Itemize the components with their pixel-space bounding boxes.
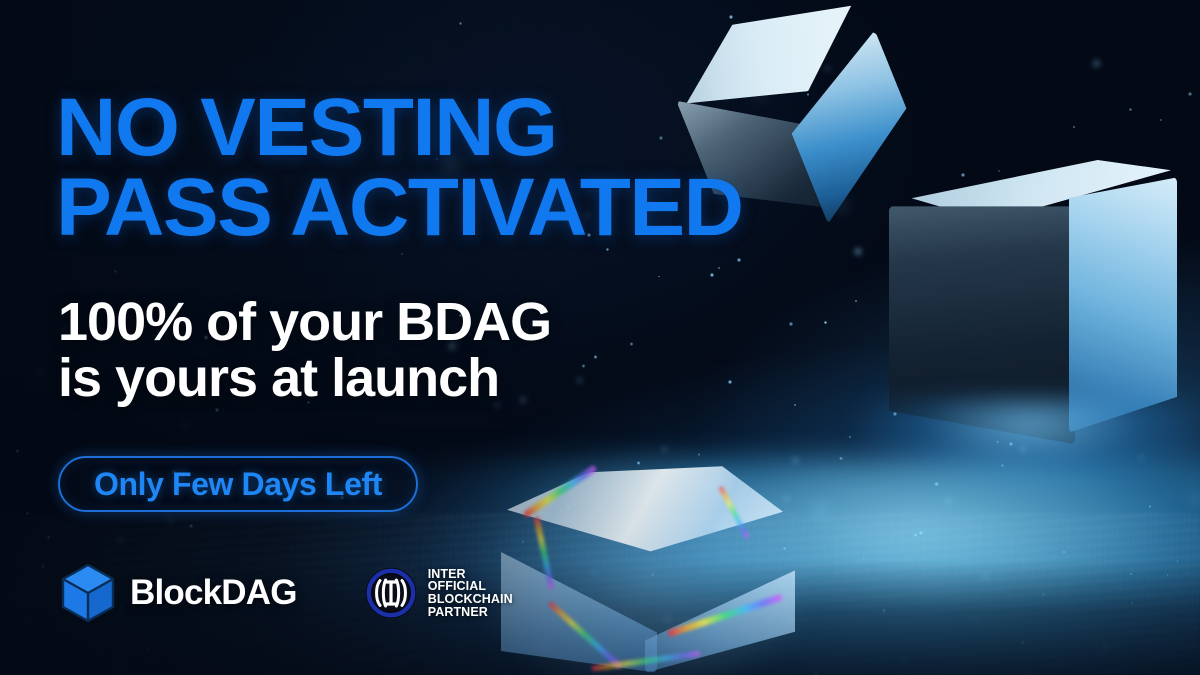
blockdag-wordmark: BlockDAG — [130, 573, 297, 613]
headline: NO VESTING PASS ACTIVATED — [56, 88, 742, 249]
inter-partner-line-3: BLOCKCHAIN — [428, 593, 513, 606]
banner-content: NO VESTING PASS ACTIVATED 100% of your B… — [56, 0, 816, 675]
subheadline-line-2: is yours at launch — [58, 350, 551, 406]
urgency-badge-label: Only Few Days Left — [94, 466, 382, 503]
blockdag-logo[interactable]: BlockDAG — [60, 563, 297, 623]
inter-partner-text: INTER OFFICIAL BLOCKCHAIN PARTNER — [428, 568, 513, 619]
isometric-cube-icon — [60, 563, 116, 623]
logo-row: BlockDAG — [60, 563, 513, 623]
inter-partner-line-4: PARTNER — [428, 606, 513, 619]
subheadline: 100% of your BDAG is yours at launch — [58, 294, 551, 406]
headline-line-2: PASS ACTIVATED — [56, 168, 742, 248]
inter-milan-crest-icon — [365, 567, 417, 619]
inter-partner-logo[interactable]: INTER OFFICIAL BLOCKCHAIN PARTNER — [365, 567, 513, 619]
speckled-stone-cube-large — [880, 160, 1180, 450]
subheadline-line-1: 100% of your BDAG — [58, 294, 551, 350]
headline-line-1: NO VESTING — [56, 88, 742, 168]
promotional-banner: NO VESTING PASS ACTIVATED 100% of your B… — [0, 0, 1200, 675]
urgency-badge[interactable]: Only Few Days Left — [58, 456, 418, 512]
